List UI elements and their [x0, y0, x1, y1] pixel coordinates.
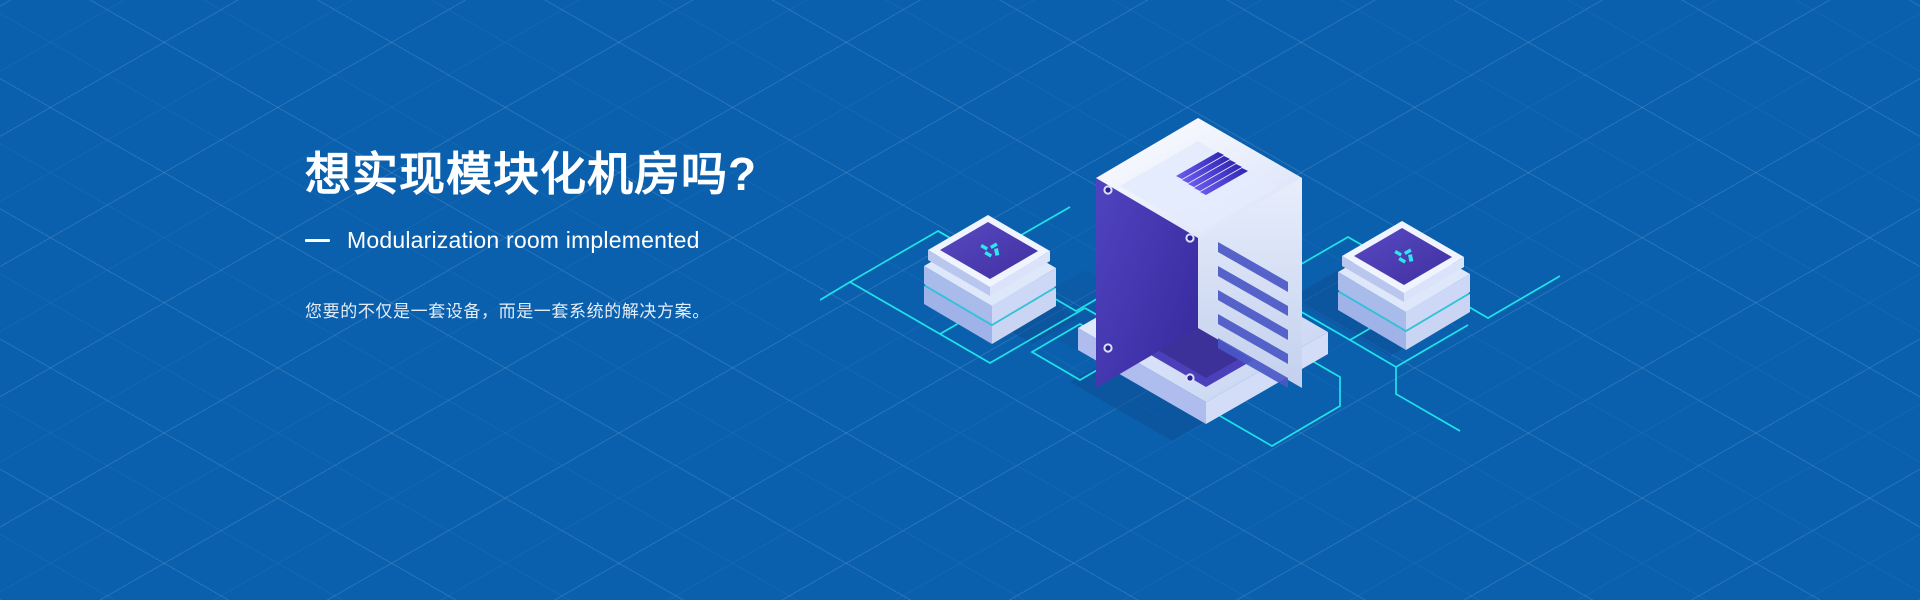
isometric-data-center-illustration	[820, 60, 1700, 480]
hero-banner: 想实现模块化机房吗? Modularization room implement…	[0, 0, 1920, 600]
dash-rule-icon	[305, 239, 330, 242]
banner-subtitle: Modularization room implemented	[347, 227, 700, 254]
